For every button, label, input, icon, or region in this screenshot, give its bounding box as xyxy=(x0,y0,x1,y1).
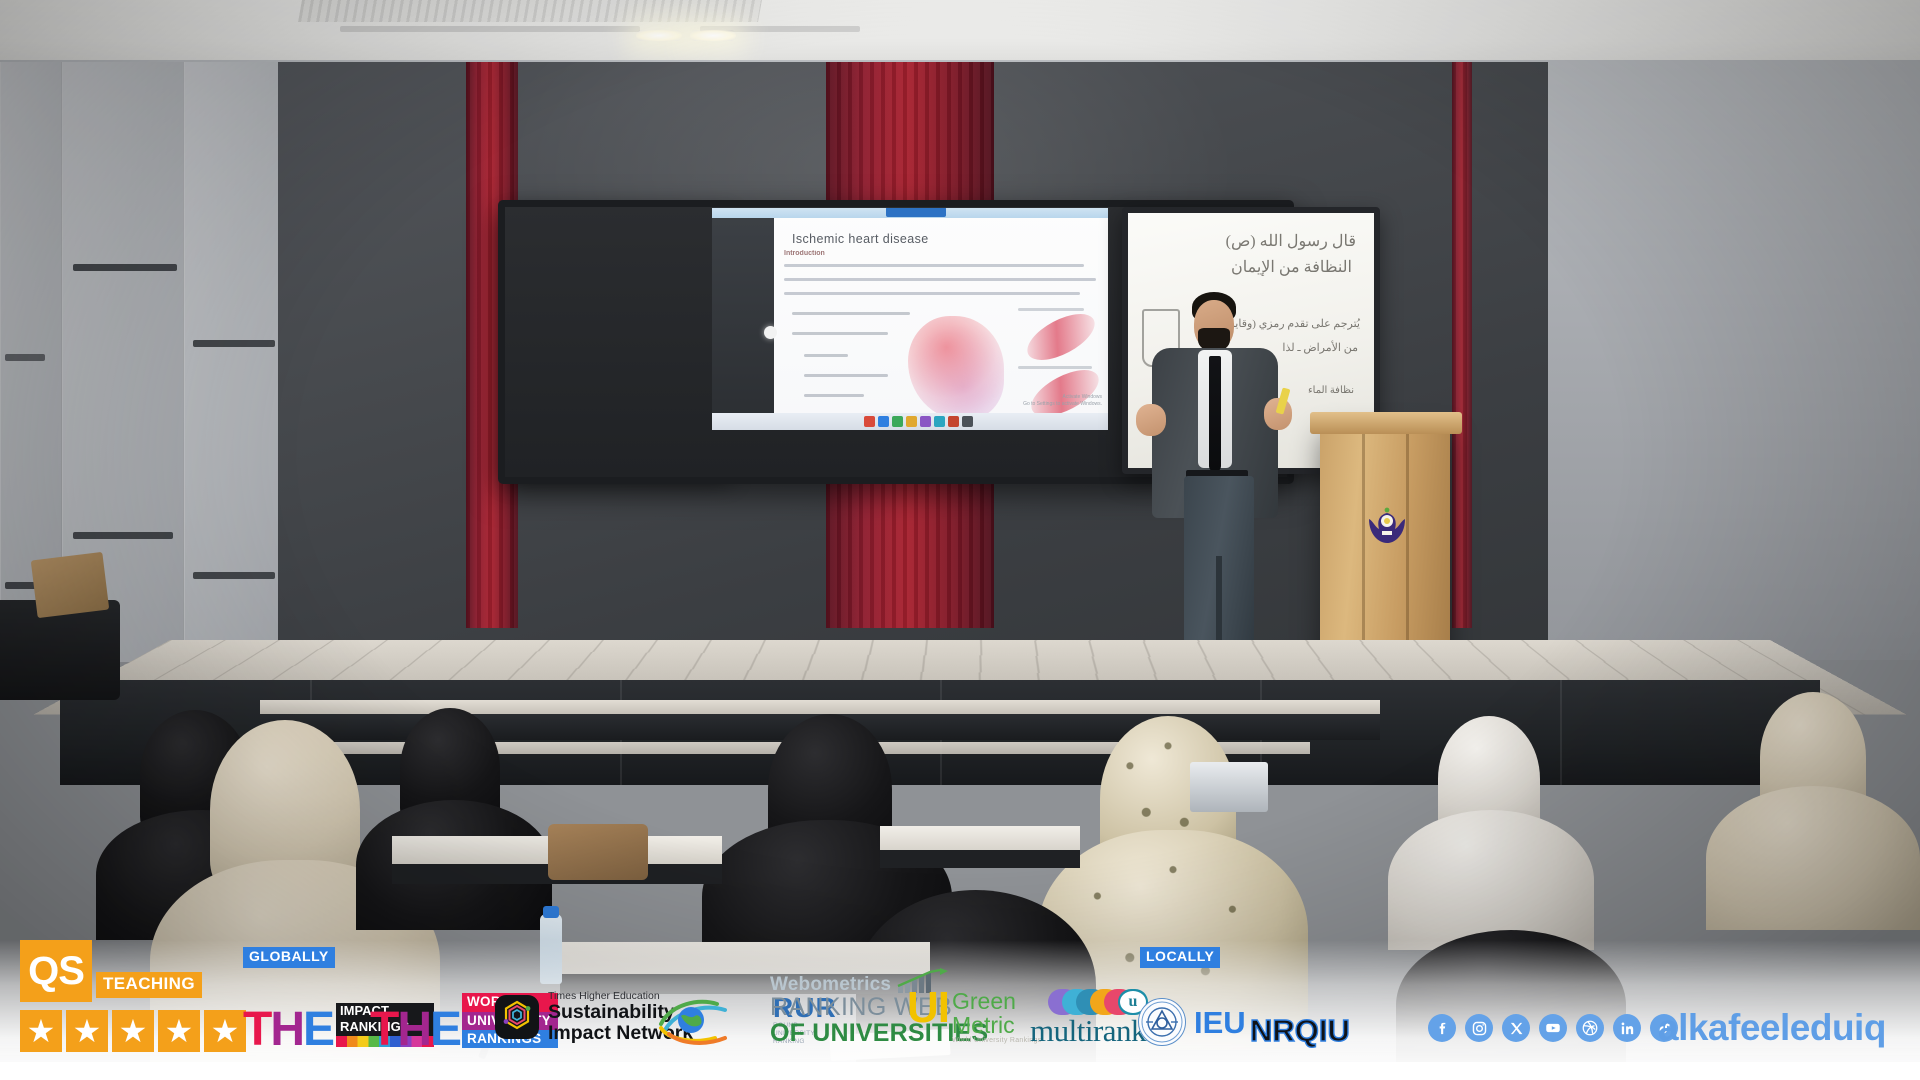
qs-star: ★ xyxy=(66,1010,108,1052)
watermark-line-1: Activate Windows xyxy=(1023,394,1102,401)
desk-edge xyxy=(880,850,1080,868)
star-glyph: ★ xyxy=(165,1015,194,1047)
star-glyph: ★ xyxy=(73,1015,102,1047)
audience-shoulders xyxy=(1706,786,1920,930)
webometrics-brand: Webometrics xyxy=(770,975,891,994)
ceiling-track-left xyxy=(340,26,640,32)
slide-title: Ischemic heart disease xyxy=(792,232,929,246)
taskbar-icon xyxy=(864,416,875,427)
cardboard-box xyxy=(31,552,110,618)
youtube-icon[interactable] xyxy=(1539,1014,1567,1042)
qs-star-rating: ★ ★ ★ ★ ★ xyxy=(20,1010,246,1052)
x-twitter-icon[interactable] xyxy=(1502,1014,1530,1042)
slide-bullet xyxy=(792,312,910,315)
uigm-green: Green xyxy=(952,990,1041,1013)
social-media-icons xyxy=(1428,1014,1678,1042)
dribbble-icon[interactable] xyxy=(1576,1014,1604,1042)
the-letter-e: E xyxy=(430,1009,460,1050)
slide-body-line xyxy=(784,278,1096,281)
qs-mark: QS xyxy=(28,951,84,991)
audience-shoulders xyxy=(1388,810,1594,950)
windows-activation-watermark: Activate Windows Go to Settings to activ… xyxy=(1023,394,1102,408)
hexagon-icon xyxy=(495,995,539,1039)
panel-handle xyxy=(73,264,177,271)
instagram-icon[interactable] xyxy=(1465,1014,1493,1042)
slide-subtitle: Introduction xyxy=(784,250,825,257)
uigm-ui: UI xyxy=(907,990,949,1026)
whiteboard-line-5: نظافة الماء xyxy=(1308,385,1354,396)
speaker-hand-left xyxy=(1136,404,1166,436)
panel-handle xyxy=(193,572,275,579)
the-letter-t: T xyxy=(370,1009,397,1050)
whiteboard-line-4: من الأمراض ـ لذا xyxy=(1282,341,1358,354)
panel-handle xyxy=(73,532,173,539)
the-letter-h: H xyxy=(270,1009,303,1050)
water-bottle-cap xyxy=(543,906,559,918)
curtain-right xyxy=(1452,62,1472,628)
taskbar-icon xyxy=(934,416,945,427)
panel-handle xyxy=(5,354,45,361)
slide-bullet xyxy=(804,354,848,357)
coronary-artery-diagram-1 xyxy=(1020,305,1101,370)
laptop xyxy=(1190,762,1268,812)
audience-head-foreground xyxy=(1396,930,1626,1080)
taskbar-icon xyxy=(948,416,959,427)
the-letter-e: E xyxy=(303,1009,333,1050)
globally-tag: GLOBALLY xyxy=(243,947,335,968)
taskbar-icon xyxy=(892,416,903,427)
ieu-logo[interactable]: IEU xyxy=(1138,998,1246,1046)
the-letter-h: H xyxy=(397,1009,430,1050)
star-glyph: ★ xyxy=(211,1015,240,1047)
whiteboard-line-1: قال رسول الله (ص) xyxy=(1226,231,1356,251)
taskbar-icon xyxy=(878,416,889,427)
slide-left-dark-panel xyxy=(712,218,774,430)
taskbar-icon xyxy=(920,416,931,427)
ui-greenmetric-logo[interactable]: UI Green Metric World University Ranking… xyxy=(907,990,1041,1044)
slide-body-line xyxy=(784,264,1084,267)
star-glyph: ★ xyxy=(27,1015,56,1047)
water-bottle xyxy=(540,914,562,984)
the-letters: T H E xyxy=(370,1009,460,1050)
qs-star: ★ xyxy=(112,1010,154,1052)
university-emblem-icon xyxy=(1365,505,1409,545)
watermark-line-2: Go to Settings to activate Windows. xyxy=(1023,401,1102,408)
linkedin-icon[interactable] xyxy=(1613,1014,1641,1042)
handbag xyxy=(548,824,648,880)
stage-step-tread xyxy=(260,700,1380,714)
desk-surface xyxy=(880,826,1080,852)
ceiling-spotlight-1 xyxy=(636,30,682,41)
ieu-wordmark: IEU xyxy=(1194,1007,1246,1038)
qs-teaching-label: TEACHING xyxy=(96,972,202,998)
whiteboard-line-2: النظافة من الإيمان xyxy=(1231,257,1352,277)
slide-body-line xyxy=(784,292,1080,295)
uigm-metric: Metric xyxy=(952,1014,1041,1037)
the-letters: T H E xyxy=(243,1009,333,1050)
facebook-icon[interactable] xyxy=(1428,1014,1456,1042)
qs-star: ★ xyxy=(20,1010,62,1052)
figure-label xyxy=(1018,308,1084,311)
screenshot-root: لا يجعل الله لكم Ischemic heart disease … xyxy=(0,0,1920,1080)
qs-star: ★ xyxy=(204,1010,246,1052)
uigm-sub: World University Rankings xyxy=(952,1037,1041,1044)
riser-seam xyxy=(1560,680,1562,785)
panel-handle xyxy=(193,340,275,347)
ceiling-vent-grille xyxy=(298,0,762,22)
speaker-tie xyxy=(1209,356,1221,472)
lecture-hall-photo: لا يجعل الله لكم Ischemic heart disease … xyxy=(0,0,1920,1080)
slide-bullet xyxy=(804,374,888,377)
star-glyph: ★ xyxy=(119,1015,148,1047)
slide-browser-tab xyxy=(886,208,946,217)
figure-label xyxy=(1018,366,1092,369)
ieu-seal-icon xyxy=(1138,998,1186,1046)
heart-diagram xyxy=(908,316,1004,420)
podium-top xyxy=(1310,412,1462,434)
nrqiu-logo[interactable]: NRQIU xyxy=(1250,1015,1350,1046)
wall-panel-left-3 xyxy=(184,62,280,662)
rur-eye-icon xyxy=(655,994,767,1046)
ceiling-spotlight-2 xyxy=(690,30,736,41)
sin-hex-icon xyxy=(495,995,539,1039)
slide-bullet xyxy=(804,394,864,397)
qs-star: ★ xyxy=(158,1010,200,1052)
slide-cursor-dot xyxy=(764,326,777,339)
taskbar-icon xyxy=(906,416,917,427)
locally-tag: LOCALLY xyxy=(1140,947,1220,968)
the-letter-t: T xyxy=(243,1009,270,1050)
taskbar-icon xyxy=(962,416,973,427)
qs-logo[interactable]: QS xyxy=(20,940,92,1002)
slide-bullet xyxy=(792,332,888,335)
seal-icon xyxy=(1139,999,1185,1045)
social-handle[interactable]: alkafeeleduiq xyxy=(1658,1009,1886,1046)
uigm-text: Green Metric World University Rankings xyxy=(952,990,1041,1044)
projected-slide: Ischemic heart disease Introduction Acti… xyxy=(712,208,1108,430)
